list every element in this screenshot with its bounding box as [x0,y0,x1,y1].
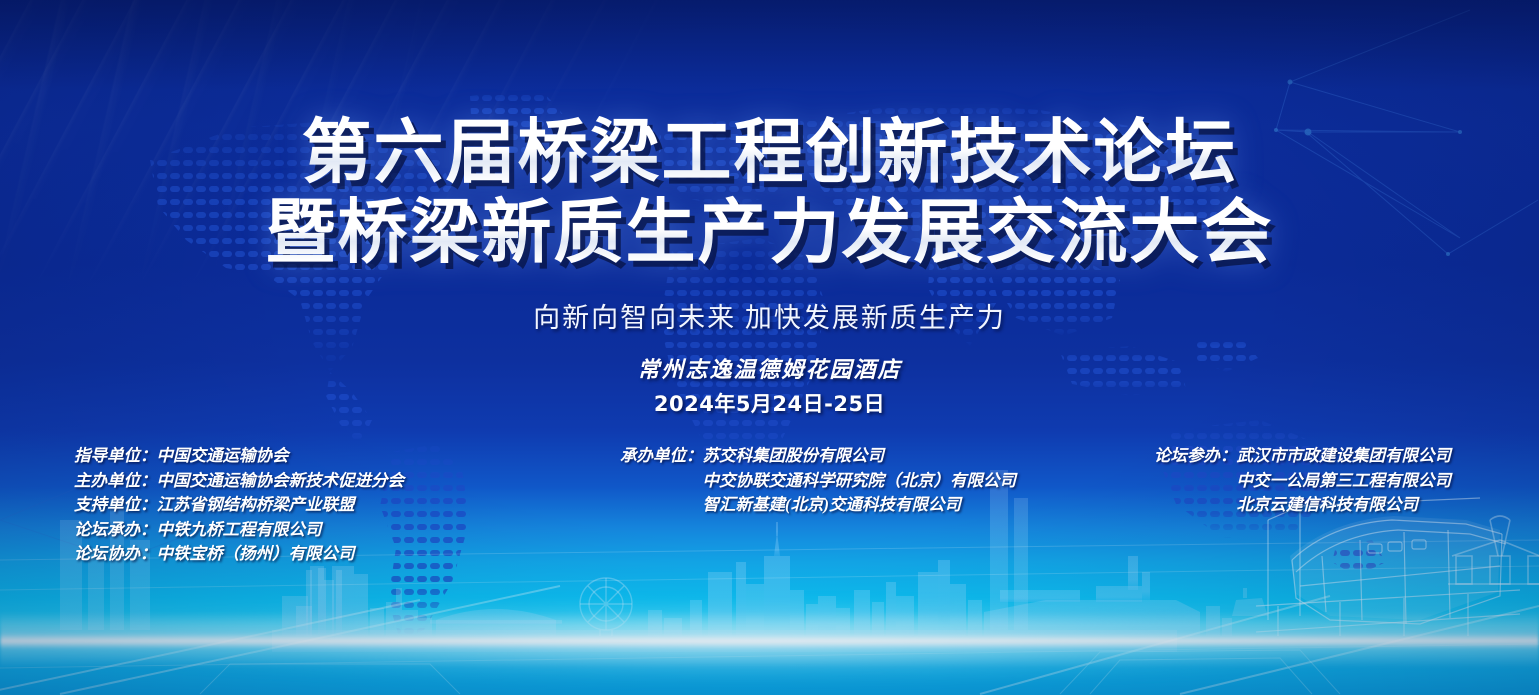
organizer-row: 指导单位：中国交通运输协会 [74,444,404,469]
main-title: 第六届桥梁工程创新技术论坛 暨桥梁新质生产力发展交流大会 [0,112,1539,272]
organizer-row: 主办单位：中国交通运输协会新技术促进分会 [74,469,404,494]
organizers-middle-column: 承办单位：苏交科集团股份有限公司 承办单位：中交协联交通科学研究院（北京）有限公… [620,444,1016,518]
event-dates: 2024年5月24日-25日 [0,388,1539,418]
organizer-row: 承办单位：智汇新基建(北京)交通科技有限公司 [620,493,1016,518]
organizer-value: 北京云建信科技有限公司 [1237,495,1419,514]
organizer-label: 论坛参办： [1154,444,1237,469]
organizer-value: 中国交通运输协会 [157,446,289,465]
organizer-value: 中铁宝桥（扬州）有限公司 [157,544,355,563]
title-line-2: 暨桥梁新质生产力发展交流大会 [0,192,1539,272]
organizer-label: 支持单位： [74,493,157,518]
organizer-row: 承办单位：苏交科集团股份有限公司 [620,444,1016,469]
organizer-label: 论坛承办： [74,518,157,543]
organizer-value: 江苏省钢结构桥梁产业联盟 [157,495,355,514]
venue-block: 常州志逸温德姆花园酒店 2024年5月24日-25日 [0,352,1539,418]
organizer-row: 承办单位：中交协联交通科学研究院（北京）有限公司 [620,469,1016,494]
organizers-section: 指导单位：中国交通运输协会 主办单位：中国交通运输协会新技术促进分会 支持单位：… [0,444,1539,584]
organizer-row: 支持单位：江苏省钢结构桥梁产业联盟 [74,493,404,518]
organizer-label: 论坛协办： [74,542,157,567]
organizer-value: 中交一公局第三工程有限公司 [1237,471,1452,490]
venue-name: 常州志逸温德姆花园酒店 [0,352,1539,384]
organizers-right-column: 论坛参办：武汉市市政建设集团有限公司 论坛参办：中交一公局第三工程有限公司 论坛… [1154,444,1451,518]
organizer-value: 中铁九桥工程有限公司 [157,520,322,539]
organizer-row: 论坛承办：中铁九桥工程有限公司 [74,518,404,543]
organizers-left-column: 指导单位：中国交通运输协会 主办单位：中国交通运输协会新技术促进分会 支持单位：… [74,444,404,567]
subtitle-slogan: 向新向智向未来 加快发展新质生产力 [0,296,1539,335]
organizer-label: 指导单位： [74,444,157,469]
organizer-value: 智汇新基建(北京)交通科技有限公司 [703,495,962,514]
conference-banner: 第六届桥梁工程创新技术论坛 暨桥梁新质生产力发展交流大会 向新向智向未来 加快发… [0,0,1539,695]
organizer-row: 论坛协办：中铁宝桥（扬州）有限公司 [74,542,404,567]
organizer-value: 中交协联交通科学研究院（北京）有限公司 [703,471,1017,490]
organizer-row: 论坛参办：武汉市市政建设集团有限公司 [1154,444,1451,469]
organizer-value: 中国交通运输协会新技术促进分会 [157,471,405,490]
organizer-value: 武汉市市政建设集团有限公司 [1237,446,1452,465]
organizer-row: 论坛参办：北京云建信科技有限公司 [1154,493,1451,518]
organizer-label: 承办单位： [620,444,703,469]
title-line-1: 第六届桥梁工程创新技术论坛 [0,112,1539,192]
organizer-value: 苏交科集团股份有限公司 [703,446,885,465]
organizer-row: 论坛参办：中交一公局第三工程有限公司 [1154,469,1451,494]
organizer-label: 主办单位： [74,469,157,494]
